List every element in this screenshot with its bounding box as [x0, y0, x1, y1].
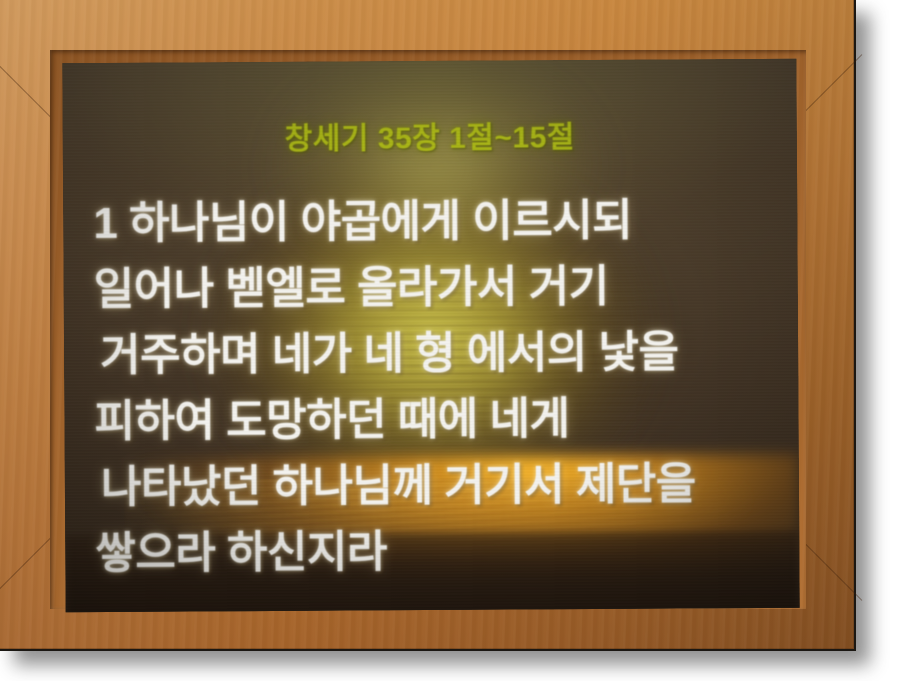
- verse-line: 쌓으라 하신지라: [95, 517, 783, 587]
- slide-title: 창세기 35장 1절~15절: [63, 111, 797, 159]
- verse-line: 나타났던 하나님께 거기서 제단을: [95, 451, 783, 521]
- slide-content: 창세기 35장 1절~15절 1 하나님이 야곱에게 이르시되 일어나 벧엘로 …: [62, 59, 799, 612]
- verse-line: 거주하며 네가 네 형 에서의 낯을: [94, 319, 782, 389]
- verse-line: 1 하나님이 야곱에게 이르시되: [93, 187, 781, 257]
- verse-text-block: 1 하나님이 야곱에게 이르시되 일어나 벧엘로 올라가서 거기 거주하며 네가…: [93, 187, 783, 587]
- verse-line: 일어나 벧엘로 올라가서 거기: [94, 253, 782, 323]
- verse-line: 피하여 도망하던 때에 네게: [94, 385, 782, 455]
- projection-screen: 창세기 35장 1절~15절 1 하나님이 야곱에게 이르시되 일어나 벧엘로 …: [62, 59, 799, 612]
- photo-canvas: 창세기 35장 1절~15절 1 하나님이 야곱에게 이르시되 일어나 벧엘로 …: [0, 0, 900, 681]
